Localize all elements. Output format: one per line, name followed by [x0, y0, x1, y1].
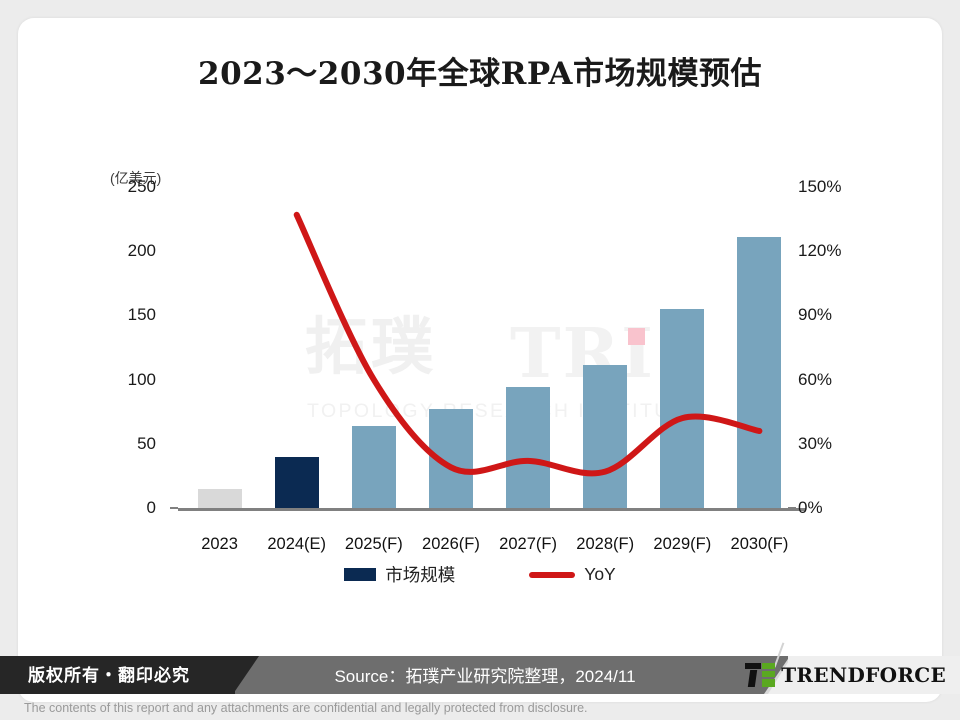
- right-axis-tick-label: 0%: [798, 498, 878, 518]
- left-axis-tickmark: [170, 507, 178, 509]
- x-axis-label: 2028(F): [576, 535, 634, 554]
- x-axis-label: 2029(F): [653, 535, 711, 554]
- legend-bar-swatch-icon: [344, 568, 376, 581]
- plot-area: [181, 187, 798, 508]
- left-axis-tick-label: 0: [96, 498, 156, 518]
- left-axis-tick-label: 200: [96, 241, 156, 261]
- x-axis-label: 2024(E): [267, 535, 326, 554]
- footer-disclaimer: The contents of this report and any atta…: [24, 701, 588, 715]
- right-axis-tickmark: [788, 507, 796, 509]
- x-axis-label: 2023: [201, 535, 238, 554]
- trendforce-mark-icon: [745, 663, 775, 687]
- left-axis-tick-label: 50: [96, 434, 156, 454]
- footer-bar: 版权所有・翻印必究 Source：拓璞产业研究院整理，2024/11 TREND…: [0, 656, 960, 720]
- legend-bar-label: 市场规模: [385, 562, 455, 587]
- chart-canvas: (亿美元) 拓璞 TRI TOPOLOGY RESEARCH INSTITUTE…: [18, 18, 942, 702]
- x-axis-label: 2026(F): [422, 535, 480, 554]
- right-axis-tick-label: 90%: [798, 305, 878, 325]
- legend-line-swatch-icon: [529, 572, 575, 578]
- legend-item-line[interactable]: YoY: [529, 564, 615, 585]
- left-axis-tick-label: 250: [96, 177, 156, 197]
- x-axis-line: [178, 508, 806, 511]
- trendforce-logo: TRENDFORCE: [745, 663, 946, 687]
- trendforce-wordmark: TRENDFORCE: [781, 663, 946, 687]
- right-axis-tick-label: 60%: [798, 370, 878, 390]
- right-axis-tick-label: 30%: [798, 434, 878, 454]
- legend-item-bar[interactable]: 市场规模: [344, 562, 455, 587]
- yoy-line-series: [181, 187, 798, 508]
- x-axis-label: 2030(F): [731, 535, 789, 554]
- left-axis-tick-label: 100: [96, 370, 156, 390]
- x-axis-label: 2027(F): [499, 535, 557, 554]
- slide-card: 2023～2030年全球RPA市场规模预估 (亿美元) 拓璞 TRI TOPOL…: [18, 18, 942, 702]
- yoy-line-path: [297, 215, 760, 474]
- right-axis-tick-label: 150%: [798, 177, 878, 197]
- x-axis-label: 2025(F): [345, 535, 403, 554]
- right-axis-tick-label: 120%: [798, 241, 878, 261]
- chart-legend: 市场规模 YoY: [18, 562, 942, 587]
- legend-line-label: YoY: [584, 564, 615, 585]
- left-axis-tick-label: 150: [96, 305, 156, 325]
